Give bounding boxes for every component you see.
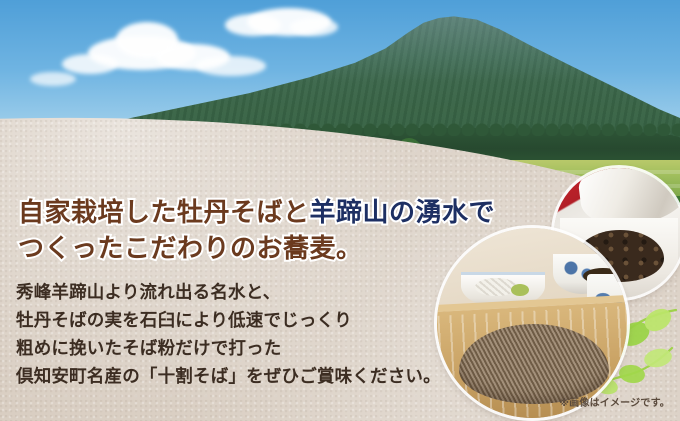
- body-line: 粗めに挽いたそば粉だけで打った: [16, 334, 486, 362]
- headline-line1-part2: と: [283, 197, 310, 227]
- product-banner: 自家栽培した牡丹そばと羊蹄山の湧水で つくったこだわりのお蕎麦。 秀峰羊蹄山より…: [0, 0, 680, 421]
- cloud-shape: [62, 54, 118, 74]
- cloud-shape: [196, 56, 266, 76]
- headline-line2: つくったこだわりのお蕎麦。: [18, 230, 488, 266]
- image-disclaimer: ※画像はイメージです。: [559, 394, 670, 409]
- body-copy: 秀峰羊蹄山より流れ出る名水と、 牡丹そばの実を石臼により低速でじっくり 粗めに挽…: [16, 278, 486, 390]
- wasabi-shape: [511, 284, 529, 296]
- body-line: 倶知安町名産の「十割そば」をぜひご賞味ください。: [16, 362, 486, 390]
- body-line: 牡丹そばの実を石臼により低速でじっくり: [16, 306, 486, 334]
- headline-line1-part3: 羊蹄山の湧水で: [310, 197, 496, 227]
- headline-line1-part1: 自家栽培した牡丹そば: [18, 197, 283, 227]
- cloud-shape: [30, 72, 76, 86]
- body-line: 秀峰羊蹄山より流れ出る名水と、: [16, 278, 486, 306]
- cloud-shape: [290, 18, 338, 36]
- headline: 自家栽培した牡丹そばと羊蹄山の湧水で つくったこだわりのお蕎麦。: [18, 194, 488, 266]
